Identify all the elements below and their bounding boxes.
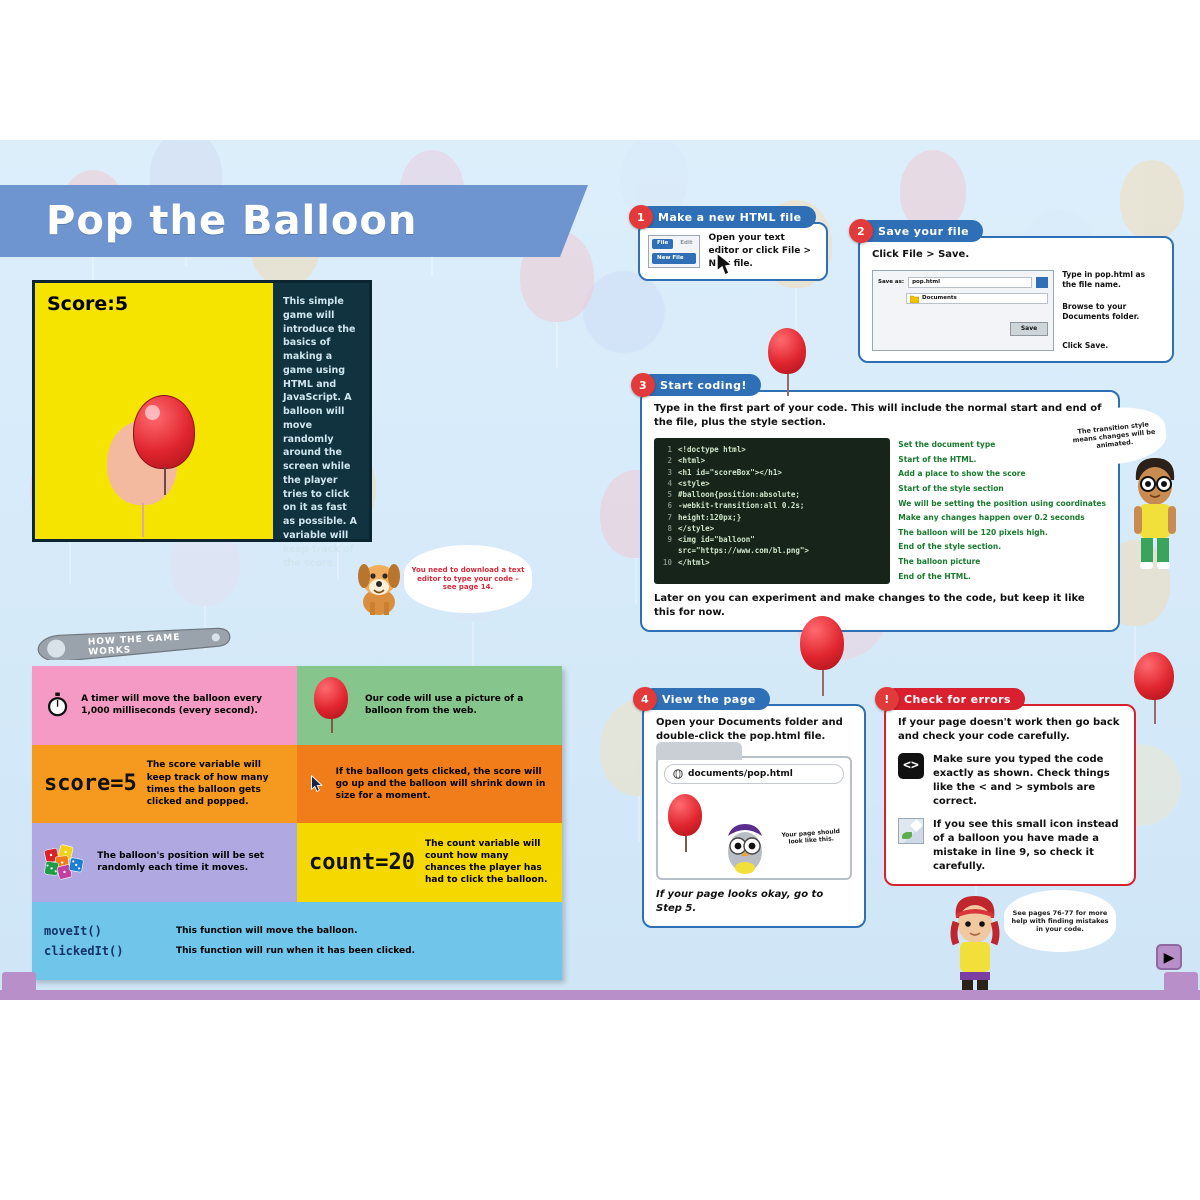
- browser-url-text: documents/pop.html: [688, 768, 793, 781]
- browser-url-bar[interactable]: documents/pop.html: [664, 764, 844, 784]
- browser-mock[interactable]: documents/pop.html: [656, 756, 852, 880]
- cell-count-variable: count=20 The count variable will count h…: [297, 823, 562, 902]
- cell-balloon-image-text: Our code will use a picture of a balloon…: [365, 693, 550, 717]
- code-line: 1<!doctype html>: [662, 444, 882, 455]
- page-title: Pop the Balloon: [46, 198, 417, 244]
- step-2-title: Save your file: [878, 225, 969, 238]
- function-desc-moveit: This function will move the balloon.: [176, 925, 358, 937]
- broken-image-icon: [898, 818, 924, 844]
- step-1-body: File Edit New File Open your text editor…: [638, 222, 828, 281]
- balloon-icon: [668, 794, 702, 836]
- step-3-footer: Later on you can experiment and make cha…: [654, 592, 1106, 620]
- cell-random-position: The balloon's position will be set rando…: [32, 823, 297, 902]
- page-tab-left[interactable]: [2, 972, 36, 1000]
- code-annotation: End of the HTML.: [898, 570, 1106, 585]
- filename-input[interactable]: pop.html: [908, 277, 1032, 288]
- step-4-number: 4: [633, 687, 657, 711]
- code-line: 5 #balloon{position:absolute;: [662, 489, 882, 500]
- step-3-header: 3 Start coding!: [640, 374, 761, 396]
- code-line: 6 -webkit-transition:all 0.2s;: [662, 500, 882, 511]
- cell-timer: A timer will move the balloon every 1,00…: [32, 666, 297, 745]
- banner-tip: [560, 185, 588, 257]
- owl-speech-bubble: Your page should look like this.: [772, 811, 849, 862]
- folder-icon: [910, 295, 919, 303]
- game-preview-screenshot: Score:5 This simple game will introduce …: [32, 280, 372, 542]
- step-2-instruction: Click File > Save.: [872, 248, 1160, 262]
- code-line-text: <!doctype html>: [678, 444, 746, 455]
- code-line-number: 1: [662, 444, 672, 455]
- cell-click-text: If the balloon gets clicked, the score w…: [336, 766, 550, 802]
- code-line: 4<style>: [662, 478, 882, 489]
- step-3-instruction: Type in the first part of your code. Thi…: [654, 402, 1106, 430]
- code-line-number: 7: [662, 512, 672, 523]
- step-2-body: Click File > Save. Save as: pop.html Doc…: [858, 236, 1174, 363]
- cell-score-text: The score variable will keep track of ho…: [147, 759, 285, 808]
- code-line-text: <img id="balloon" src="https://www.com/b…: [678, 534, 882, 557]
- code-annotation: Make any changes happen over 0.2 seconds: [898, 511, 1106, 526]
- balloon-ghost-string: [142, 503, 144, 537]
- step-3-body: Type in the first part of your code. Thi…: [640, 390, 1120, 632]
- score-display: Score:5: [47, 293, 128, 315]
- code-brackets-icon: <>: [898, 753, 924, 779]
- step-2: 2 Save your file Click File > Save. Save…: [858, 220, 1174, 363]
- page-tab-right[interactable]: [1164, 972, 1198, 1000]
- cell-balloon-image: Our code will use a picture of a balloon…: [297, 666, 562, 745]
- code-line: 7 height:120px;}: [662, 512, 882, 523]
- balloon-icon: [314, 677, 348, 719]
- filename-dropdown-icon[interactable]: [1036, 277, 1048, 288]
- check-errors-body: If your page doesn't work then go back a…: [884, 704, 1136, 886]
- code-line-number: 4: [662, 478, 672, 489]
- function-desc-clickedit: This function will run when it has been …: [176, 945, 415, 957]
- balloon-string: [331, 719, 333, 733]
- step-2-callout-folder: Browse to your Documents folder.: [1062, 302, 1160, 322]
- function-name-moveit: moveIt(): [44, 924, 164, 938]
- girl-character-icon: [940, 888, 1010, 1000]
- mouse-pointer-icon: [714, 252, 736, 276]
- page-title-banner: Pop the Balloon: [0, 185, 560, 257]
- check-errors-item-1: Make sure you typed the code exactly as …: [933, 753, 1122, 809]
- boy-character-icon: [1122, 450, 1188, 580]
- code-line: 9<img id="balloon" src="https://www.com/…: [662, 534, 882, 557]
- decor-balloon-string: [822, 670, 824, 696]
- step-2-callout-filename: Type in pop.html as the file name.: [1062, 270, 1160, 290]
- step-3-title: Start coding!: [660, 379, 747, 392]
- dice-icon: [44, 832, 87, 892]
- code-annotation: Add a place to show the score: [898, 467, 1106, 482]
- menu-item-new-file[interactable]: New File: [652, 253, 696, 265]
- decor-balloon-icon: [768, 328, 806, 374]
- balloon-icon: [133, 395, 195, 469]
- globe-icon: [673, 769, 683, 779]
- decor-balloon-icon: [1134, 652, 1174, 700]
- check-errors-header: ! Check for errors: [884, 688, 1025, 710]
- save-button[interactable]: Save: [1010, 322, 1048, 336]
- step-4-header: 4 View the page: [642, 688, 770, 710]
- step-1-title: Make a new HTML file: [658, 211, 802, 224]
- code-block[interactable]: 1<!doctype html> 2<html> 3<h1 id="scoreB…: [654, 438, 890, 584]
- cell-random-text: The balloon's position will be set rando…: [97, 850, 285, 874]
- game-works-grid: A timer will move the balloon every 1,00…: [32, 666, 562, 980]
- code-annotations: Set the document type Start of the HTML.…: [898, 438, 1106, 584]
- step-4-title: View the page: [662, 693, 756, 706]
- mouse-pointer-icon: [309, 761, 326, 807]
- code-line-number: 2: [662, 455, 672, 466]
- code-line: 10</html>: [662, 557, 882, 568]
- step-2-header: 2 Save your file: [858, 220, 983, 242]
- code-line: 8</style>: [662, 523, 882, 534]
- step-2-callout-save: Click Save.: [1062, 341, 1160, 351]
- code-annotation: The balloon picture: [898, 555, 1106, 570]
- cell-functions: moveIt() This function will move the bal…: [32, 902, 562, 981]
- balloon-string: [685, 836, 687, 852]
- check-errors-instruction: If your page doesn't work then go back a…: [898, 716, 1122, 744]
- cell-score-variable: score=5 The score variable will keep tra…: [32, 745, 297, 824]
- code-line-text: <html>: [678, 455, 705, 466]
- dog-character-icon: [350, 552, 408, 616]
- decor-balloon-string: [1154, 700, 1156, 724]
- folder-name: Documents: [922, 295, 957, 303]
- dog-speech-bubble: You need to download a text editor to ty…: [404, 545, 532, 613]
- code-line-text: <style>: [678, 478, 710, 489]
- wrench-icon: HOW THE GAME WORKS: [36, 626, 226, 660]
- step-2-number: 2: [849, 219, 873, 243]
- code-line-text: </html>: [678, 557, 710, 568]
- code-line-number: 3: [662, 467, 672, 478]
- menu-item-file[interactable]: File: [652, 239, 673, 249]
- menu-item-edit[interactable]: Edit: [676, 239, 696, 249]
- code-line-number: 9: [662, 534, 672, 557]
- save-as-label: Save as:: [878, 279, 904, 287]
- check-errors-title: Check for errors: [904, 693, 1011, 706]
- cell-timer-text: A timer will move the balloon every 1,00…: [81, 693, 285, 717]
- balloon-shine: [145, 405, 161, 421]
- step-4-body: Open your Documents folder and double-cl…: [642, 704, 866, 928]
- step-3: 3 Start coding! Type in the first part o…: [640, 374, 1120, 632]
- code-line-text: #balloon{position:absolute;: [678, 489, 800, 500]
- decor-balloon-icon: [800, 616, 844, 670]
- code-line-text: </style>: [678, 523, 714, 534]
- game-description: This simple game will introduce the basi…: [273, 283, 369, 539]
- code-line-number: 6: [662, 500, 672, 511]
- step-4-instruction: Open your Documents folder and double-cl…: [656, 716, 852, 744]
- balloon-string: [164, 467, 166, 495]
- step-1: 1 Make a new HTML file File Edit New Fil…: [638, 206, 828, 281]
- stopwatch-icon: [44, 681, 71, 729]
- code-line-text: -webkit-transition:all 0.2s;: [678, 500, 804, 511]
- code-annotation: End of the style section.: [898, 540, 1106, 555]
- game-canvas: Score:5: [35, 283, 273, 539]
- code-annotation: The balloon will be 120 pixels high.: [898, 526, 1106, 541]
- step-1-number: 1: [629, 205, 653, 229]
- code-annotation: We will be setting the position using co…: [898, 497, 1106, 512]
- save-as-dialog[interactable]: Save as: pop.html Documents Save: [872, 270, 1054, 351]
- step-1-header: 1 Make a new HTML file: [638, 206, 816, 228]
- step-4-footer: If your page looks okay, go to Step 5.: [656, 888, 852, 916]
- check-errors-item-2: If you see this small icon instead of a …: [933, 818, 1122, 874]
- code-line-text: height:120px;}: [678, 512, 741, 523]
- code-line: 3<h1 id="scoreBox"></h1>: [662, 467, 882, 478]
- code-line-number: 10: [662, 557, 672, 568]
- count-variable-label: count=20: [309, 850, 415, 875]
- page-bottom-bar: [0, 990, 1200, 1000]
- editor-menu-mock[interactable]: File Edit New File: [648, 235, 700, 268]
- cell-click-behaviour: If the balloon gets clicked, the score w…: [297, 745, 562, 824]
- code-annotation: Start of the style section: [898, 482, 1106, 497]
- step-3-number: 3: [631, 373, 655, 397]
- decor-balloon-string: [787, 374, 789, 396]
- code-line-number: 5: [662, 489, 672, 500]
- browser-tab[interactable]: [656, 742, 742, 760]
- code-line: 2<html>: [662, 455, 882, 466]
- function-name-clickedit: clickedIt(): [44, 944, 164, 958]
- code-line-number: 8: [662, 523, 672, 534]
- step-4: 4 View the page Open your Documents fold…: [642, 688, 866, 928]
- owl-character-icon: [716, 818, 774, 881]
- code-line-text: <h1 id="scoreBox"></h1>: [678, 467, 782, 478]
- score-variable-label: score=5: [44, 771, 137, 796]
- book-spread: Pop the Balloon Score:5 This simple game…: [0, 140, 1200, 1000]
- cell-count-text: The count variable will count how many c…: [425, 838, 550, 887]
- how-the-game-works-section: HOW THE GAME WORKS A timer will move the…: [32, 632, 562, 980]
- step-check-errors: ! Check for errors If your page doesn't …: [884, 688, 1136, 886]
- next-page-button[interactable]: ▶: [1156, 944, 1182, 970]
- warning-icon: !: [875, 687, 899, 711]
- girl-speech-bubble: See pages 76-77 for more help with findi…: [1004, 890, 1116, 952]
